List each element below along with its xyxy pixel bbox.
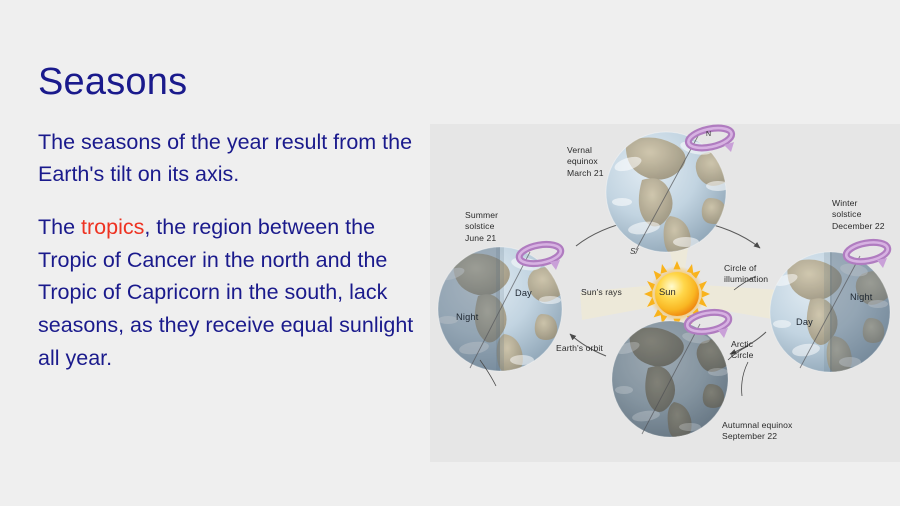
label-autumnal-equinox: Autumnal equinox September 22	[722, 420, 792, 443]
rotation-arrow-top: N	[687, 125, 734, 152]
rotation-arrow-right	[845, 239, 889, 268]
winter-solstice-globe	[770, 248, 900, 380]
label-winter-solstice: Winter solstice December 22	[832, 198, 885, 232]
label-summer-solstice: Summer solstice June 21	[465, 210, 498, 244]
label-night-summer-globe: Night	[456, 312, 478, 322]
label-vernal-equinox: Vernal equinox March 21	[567, 145, 604, 179]
label-day-summer-globe: Day	[515, 288, 532, 298]
label-day-winter-globe: Day	[796, 317, 813, 327]
autumnal-equinox-globe	[610, 318, 734, 442]
axis-pole-letter-top: N	[706, 131, 711, 138]
tropics-highlight: tropics	[81, 215, 144, 239]
label-axis-fragment: S/	[630, 246, 638, 257]
label-circle-of-illumination: Circle of illumination	[724, 263, 768, 286]
leader-arctic-circle-2	[742, 362, 748, 396]
label-arctic-circle: Arctic Circle	[731, 339, 754, 362]
seasons-diagram-panel: N	[430, 124, 900, 462]
page-title: Seasons	[38, 62, 423, 104]
paragraph-tropics: The tropics, the region between the Trop…	[38, 211, 423, 374]
label-night-winter-globe: Night	[850, 292, 872, 302]
label-suns-rays: Sun's rays	[581, 287, 622, 298]
vernal-equinox-globe	[606, 132, 735, 256]
label-sun: Sun	[659, 286, 676, 297]
label-earths-orbit: Earth's orbit	[556, 343, 603, 354]
paragraph-seasons-cause: The seasons of the year result from the …	[38, 126, 423, 191]
paragraph-tropics-pre: The	[38, 215, 81, 239]
slide-text-column: Seasons The seasons of the year result f…	[38, 62, 423, 395]
